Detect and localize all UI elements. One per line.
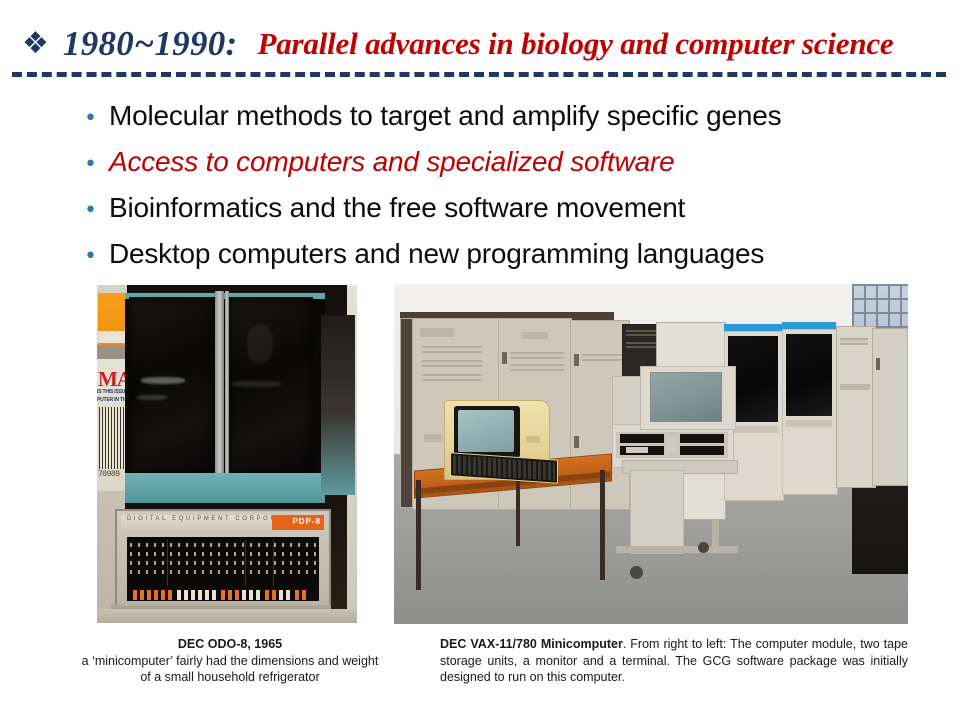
list-item: • Molecular methods to target and amplif…: [84, 100, 934, 146]
bullet-text: Molecular methods to target and amplify …: [109, 100, 781, 132]
bullet-dot-icon: •: [84, 108, 97, 130]
cabinet-divider: [215, 291, 224, 487]
cabinet-logo-plate: [522, 332, 548, 339]
floor: [97, 609, 357, 623]
cart-base-bar: [615, 546, 738, 553]
bullet-dot-icon: •: [84, 246, 97, 268]
magazine-line-2: PUTER IN TH: [97, 397, 126, 403]
equipment-cabinet-right-1: [836, 326, 876, 488]
list-item: • Desktop computers and new programming …: [84, 238, 934, 284]
vent-grille: [422, 374, 482, 382]
vent-grille: [422, 360, 482, 370]
slide-canvas: ❖ 1980~1990: Parallel advances in biolog…: [0, 0, 960, 720]
title-years: 1980~1990:: [63, 24, 238, 64]
indicator-lamps: [130, 541, 316, 581]
pdp8-console: DIGITAL EQUIPMENT CORPORATION PDP-8: [115, 509, 331, 609]
caption-left-title: DEC ODO-8, 1965: [178, 637, 282, 651]
cabinet-logo-plate: [420, 328, 454, 337]
barcode-icon: [99, 407, 125, 469]
keyboard-keys: [453, 455, 555, 480]
cabinet-glass-door-right: [227, 297, 313, 479]
title-subject: Parallel advances in biology and compute…: [258, 26, 894, 62]
drive-slot: [620, 434, 664, 443]
cart-caster: [698, 542, 709, 553]
pdp8-badge-text: PDP-8: [292, 517, 321, 526]
vent-grille: [582, 354, 624, 361]
cabinet-glass-door-left: [129, 297, 215, 479]
caption-left: DEC ODO-8, 1965 a ‘minicomputer’ fairly …: [80, 636, 380, 686]
cabinet-divider: [225, 291, 229, 487]
bullet-text: Desktop computers and new programming la…: [109, 238, 764, 270]
bullet-list: • Molecular methods to target and amplif…: [84, 100, 934, 284]
diamond-bullet-icon: ❖: [22, 29, 49, 59]
glass-glare: [141, 377, 185, 384]
indicator-panel: [127, 537, 319, 589]
slide-title: ❖ 1980~1990: Parallel advances in biolog…: [22, 18, 952, 70]
terminal-screen: [458, 410, 514, 452]
bullet-dot-icon: •: [84, 200, 97, 222]
vent-grille: [510, 352, 564, 359]
tape-unit-glass-door-2: [786, 334, 832, 416]
magazine-top-band: [98, 331, 126, 343]
cabinet-label: [840, 384, 870, 390]
caption-right-title: DEC VAX-11/780 Minicomputer: [440, 637, 623, 651]
glass-glare: [137, 395, 167, 400]
toggle-switch-row: [127, 589, 319, 601]
bullet-text: Access to computers and specialized soft…: [109, 146, 674, 178]
desk-leg: [516, 470, 520, 546]
cart-caster: [630, 566, 643, 579]
title-divider-line: [12, 72, 946, 77]
cabinet-handle: [502, 352, 507, 364]
vent-grille: [840, 338, 868, 345]
dec-vax-photo: [394, 284, 908, 624]
vent-grille: [510, 364, 564, 371]
terminal-logo-plate: [526, 436, 540, 443]
drive-slot: [680, 446, 724, 455]
background-equipment: [321, 315, 355, 495]
caption-left-body: a ‘minicomputer’ fairly had the dimensio…: [82, 654, 379, 685]
cabinet-teal-base: [125, 473, 325, 507]
equipment-cabinet-right-2: [872, 328, 908, 486]
drive-control: [666, 436, 676, 454]
bullet-dot-icon: •: [84, 154, 97, 176]
cabinet-handle: [574, 436, 579, 448]
cart-pedestal: [630, 470, 684, 554]
magazine-number: 70989: [98, 470, 120, 479]
caption-right: DEC VAX-11/780 Minicomputer. From right …: [440, 636, 908, 686]
drive-slot: [680, 434, 724, 443]
list-item: • Access to computers and specialized so…: [84, 146, 934, 192]
vent-grille: [422, 346, 482, 356]
glass-glare: [247, 325, 273, 363]
cabinet-panel-mark: [424, 434, 442, 442]
cabinet-handle: [574, 354, 579, 366]
dec-pdp8-photo: MA IS THIS ISSUE PUTER IN TH 70989 DIGIT…: [97, 285, 357, 623]
drive-media: [626, 447, 648, 453]
desk-leg: [600, 470, 605, 580]
cart-leg: [712, 520, 719, 552]
monitor-screen: [650, 372, 722, 422]
cabinet-handle: [876, 358, 880, 370]
tape-unit-label-2: [786, 420, 832, 427]
glass-glare: [231, 381, 281, 387]
bullet-text: Bioinformatics and the free software mov…: [109, 192, 685, 224]
list-item: • Bioinformatics and the free software m…: [84, 192, 934, 238]
desk-leg: [416, 480, 421, 590]
shelf-edge: [97, 345, 127, 359]
magazine-line-1: IS THIS ISSUE: [97, 389, 128, 395]
